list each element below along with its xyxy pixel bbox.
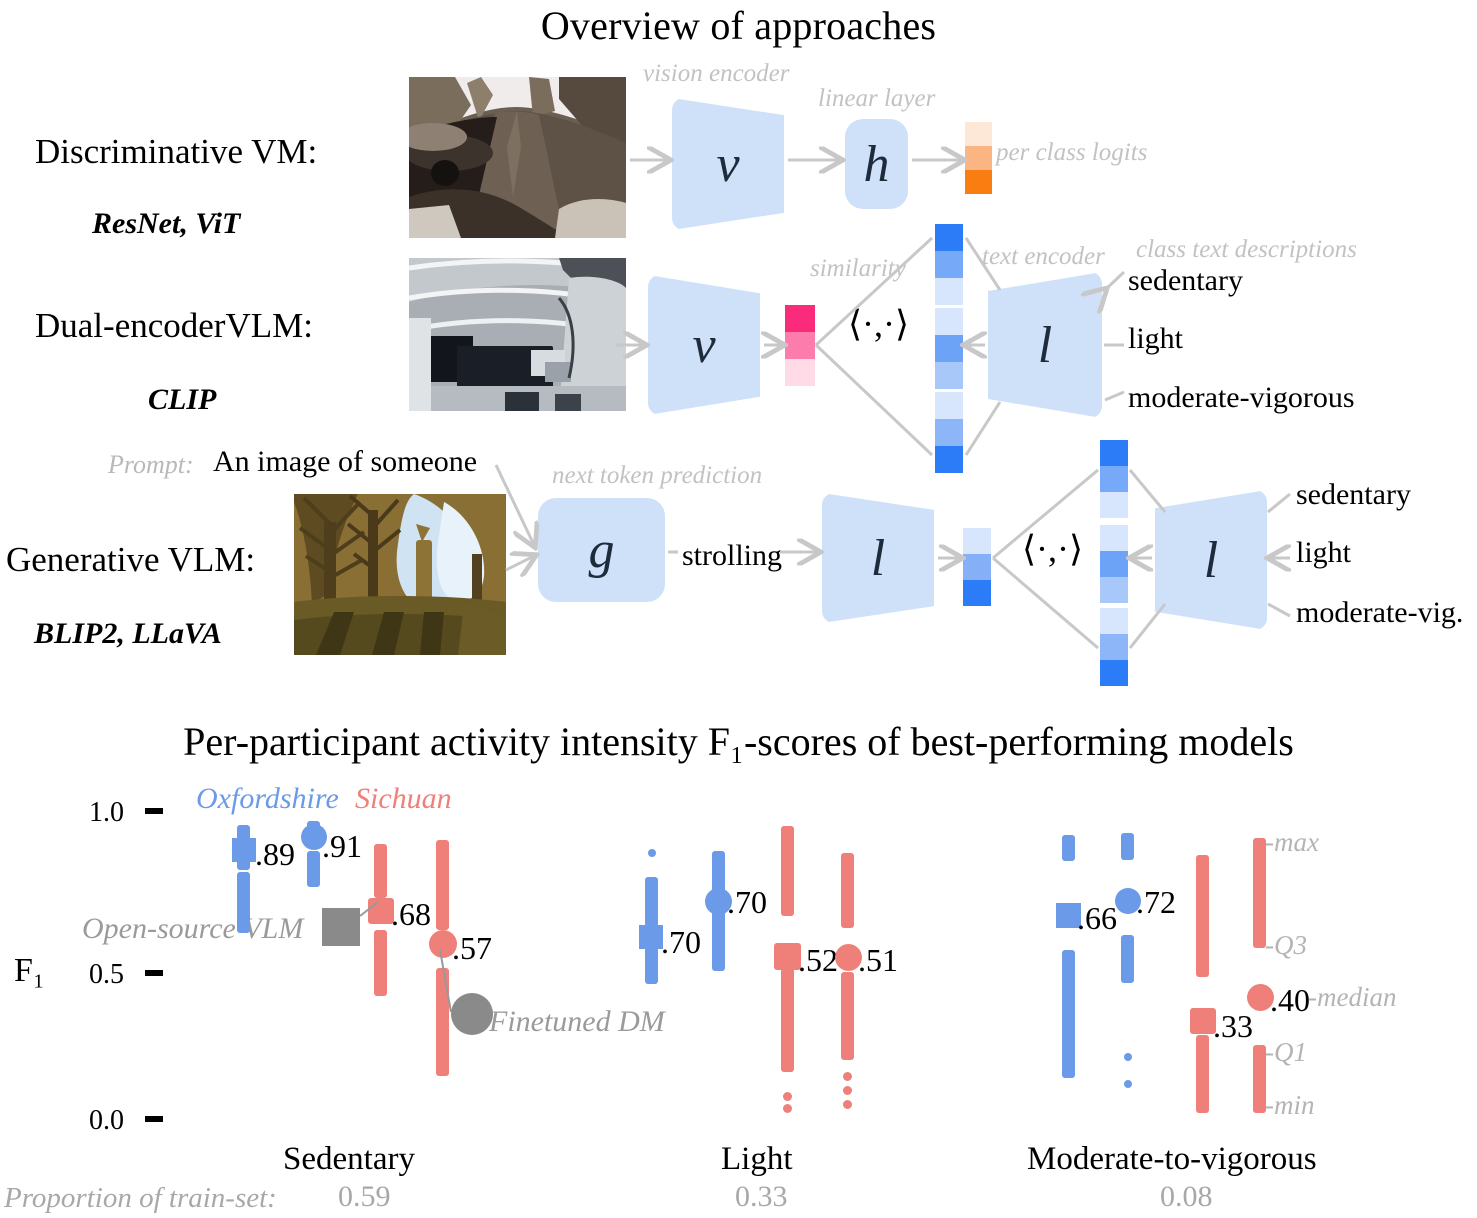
- thumbnail-road-image: [409, 77, 626, 238]
- similarity-symbol-gen: ⟨·,·⟩: [1022, 528, 1083, 570]
- row-label-dual-encoder: Dual-encoderVLM:: [35, 306, 313, 346]
- gen-sim-cell-b2: [1100, 577, 1128, 603]
- text-embedding-cell-1: [963, 554, 991, 580]
- legend-finetuned-dm: Finetuned DM: [489, 1005, 665, 1039]
- sim-cell-c0: [935, 392, 963, 419]
- logits-cell-1: [965, 146, 992, 170]
- median-label-mvpa-ox-dm: .72: [1136, 884, 1176, 921]
- median-marker-light-si-vlm: [774, 943, 801, 970]
- block-letter-l: l: [1038, 316, 1052, 375]
- box-sedentary-ox-vlm-lower: [237, 872, 250, 933]
- outlier-light-si-dm-1: [843, 1072, 852, 1081]
- block-linear-layer-h: h: [845, 119, 908, 209]
- image-embedding-cell-2: [785, 359, 815, 386]
- box-sedentary-ox-dm-lower: [307, 851, 320, 887]
- median-marker-light-ox-vlm: [639, 925, 663, 949]
- box-sedentary-si-vlm-lower: [374, 930, 387, 996]
- text-embedding-cell-0: [963, 528, 991, 554]
- gen-sim-cell-b1: [1100, 551, 1128, 577]
- block-letter-l2: l: [1204, 531, 1218, 590]
- legend-oxfordshire: Oxfordshire: [196, 782, 339, 816]
- logits-cell-0: [965, 122, 992, 146]
- box-sedentary-si-dm-upper: [436, 840, 449, 930]
- box-mvpa-ox-vlm-upper: [1062, 835, 1075, 861]
- annotation-vision-encoder: vision encoder: [643, 60, 789, 88]
- similarity-symbol-dual: ⟨·,·⟩: [848, 303, 909, 345]
- row-models-dual-encoder: CLIP: [148, 383, 216, 417]
- outlier-mvpa-ox-dm-2: [1124, 1080, 1132, 1088]
- block-text-encoder-l: l: [988, 272, 1102, 418]
- block-letter-v2: v: [692, 316, 715, 375]
- prompt-text: An image of someone: [213, 445, 477, 479]
- annotation-class-text-descriptions: class text descriptions: [1136, 236, 1357, 264]
- block-letter-h: h: [864, 135, 890, 194]
- block-vision-encoder-v2: v: [648, 275, 760, 415]
- median-label-light-ox-vlm: .70: [661, 924, 701, 961]
- proportion-moderate-to-vigorous: 0.08: [1160, 1180, 1213, 1214]
- box-light-ox-vlm-upper: [645, 877, 658, 927]
- sim-cell-a2: [935, 278, 963, 305]
- outlier-light-ox-vlm: [648, 849, 656, 857]
- ytick-mark-3: [145, 1116, 163, 1122]
- class-label-sedentary-dual: sedentary: [1128, 264, 1243, 298]
- box-mvpa-ox-dm-lower: [1121, 935, 1134, 983]
- gen-sim-cell-b0: [1100, 525, 1128, 551]
- block-generative-g: g: [538, 498, 665, 602]
- outlier-mvpa-ox-dm-1: [1124, 1053, 1132, 1061]
- sim-cell-a0: [935, 224, 963, 251]
- prompt-label: Prompt:: [108, 450, 194, 480]
- sim-cell-b2: [935, 362, 963, 389]
- box-annotation-min: -min: [1265, 1090, 1315, 1121]
- box-light-si-vlm-lower: [781, 968, 794, 1072]
- median-label-light-si-dm: .51: [858, 942, 898, 979]
- box-annotation-q3: -Q3: [1265, 930, 1307, 961]
- gen-sim-cell-a2: [1100, 492, 1128, 518]
- thumbnail-desk-image: [409, 258, 626, 411]
- ytick-mark-2: [145, 970, 163, 976]
- box-sedentary-si-dm-lower: [436, 968, 449, 1076]
- class-label-light-gen: light: [1296, 536, 1351, 570]
- legend-sichuan: Sichuan: [355, 782, 452, 816]
- median-label-sedentary-ox-dm: .91: [322, 828, 362, 865]
- row-label-discriminative: Discriminative VM:: [35, 132, 317, 172]
- generated-token: strolling: [682, 539, 782, 573]
- proportion-light: 0.33: [735, 1180, 788, 1214]
- median-label-light-si-vlm: .52: [798, 942, 838, 979]
- median-label-sedentary-si-vlm: .68: [391, 896, 431, 933]
- box-light-si-vlm-upper: [781, 826, 794, 916]
- block-letter-g: g: [589, 521, 615, 580]
- class-label-sedentary-gen: sedentary: [1296, 478, 1411, 512]
- median-label-light-ox-dm: .70: [727, 884, 767, 921]
- gen-sim-cell-c1: [1100, 634, 1128, 660]
- ytick-1: 1.0: [89, 797, 124, 829]
- median-label-sedentary-si-dm: .57: [452, 930, 492, 967]
- sim-cell-c2: [935, 446, 963, 473]
- outlier-light-si-dm-2: [843, 1086, 852, 1095]
- box-annotation-q1: -Q1: [1265, 1037, 1307, 1068]
- annotation-linear-layer: linear layer: [818, 85, 935, 113]
- gen-sim-cell-a1: [1100, 466, 1128, 492]
- category-label-light: Light: [721, 1141, 793, 1178]
- median-marker-sedentary-ox-vlm: [232, 838, 256, 862]
- box-mvpa-si-vlm-upper: [1196, 855, 1209, 977]
- gen-sim-cell-a0: [1100, 440, 1128, 466]
- box-light-ox-dm-lower: [712, 911, 725, 971]
- image-embedding-cell-0: [785, 305, 815, 332]
- sim-cell-b0: [935, 308, 963, 335]
- median-label-mvpa-ox-vlm: .66: [1077, 900, 1117, 937]
- legend-finetuned-dm-marker: [451, 993, 493, 1035]
- category-label-sedentary: Sedentary: [283, 1141, 415, 1178]
- box-mvpa-si-vlm-lower: [1196, 1035, 1209, 1113]
- legend-open-source-vlm-marker: [322, 908, 360, 946]
- image-embedding-cell-1: [785, 332, 815, 359]
- thumbnail-park-image: [294, 494, 506, 655]
- block-vision-encoder-v: v: [672, 98, 784, 230]
- ytick-2: 0.5: [89, 959, 124, 991]
- gen-sim-cell-c2: [1100, 660, 1128, 686]
- proportion-of-train-set-label: Proportion of train-set:: [4, 1182, 277, 1215]
- annotation-similarity: similarity: [810, 255, 906, 283]
- ytick-3: 0.0: [89, 1105, 124, 1137]
- row-models-generative: BLIP2, LLaVA: [34, 617, 222, 651]
- sim-cell-c1: [935, 419, 963, 446]
- median-label-mvpa-si-vlm: .33: [1213, 1008, 1253, 1045]
- outlier-light-si-dm-3: [843, 1100, 852, 1109]
- annotation-next-token-prediction: next token prediction: [552, 462, 762, 490]
- category-label-moderate-to-vigorous: Moderate-to-vigorous: [1027, 1141, 1317, 1178]
- box-light-ox-dm-upper: [712, 851, 725, 893]
- text-embedding-cell-2: [963, 580, 991, 606]
- logits-cell-2: [965, 170, 992, 194]
- box-light-si-dm-lower: [841, 972, 854, 1060]
- outlier-light-si-vlm-1: [783, 1092, 792, 1101]
- chart-ylabel: F₁: [14, 952, 45, 990]
- annotation-text-encoder: text encoder: [982, 243, 1105, 271]
- chart-title: Per-participant activity intensity F₁-sc…: [0, 718, 1477, 765]
- box-mvpa-ox-vlm-lower: [1062, 950, 1075, 1078]
- box-mvpa-ox-dm-upper: [1121, 833, 1134, 860]
- row-label-generative: Generative VLM:: [6, 540, 255, 580]
- sim-cell-b1: [935, 335, 963, 362]
- box-light-ox-vlm-lower: [645, 947, 658, 984]
- gen-sim-cell-c0: [1100, 608, 1128, 634]
- box-sedentary-si-vlm-upper: [374, 844, 387, 898]
- block-letter-l1: l: [871, 529, 885, 588]
- annotation-per-class-logits: per class logits: [996, 139, 1147, 167]
- box-annotation-max: -max: [1265, 827, 1319, 858]
- sim-cell-a1: [935, 251, 963, 278]
- block-text-encoder-l2: l: [1155, 490, 1267, 630]
- block-language-encoder-l1: l: [822, 493, 934, 623]
- median-label-mvpa-si-dm: .40: [1270, 982, 1310, 1019]
- row-models-discriminative: ResNet, ViT: [92, 207, 240, 241]
- diagram-title: Overview of approaches: [0, 2, 1477, 49]
- class-label-moderate-gen: moderate-vig.: [1296, 596, 1463, 630]
- outlier-light-si-vlm-2: [783, 1104, 792, 1113]
- box-light-si-dm-upper: [841, 853, 854, 928]
- class-label-light-dual: light: [1128, 322, 1183, 356]
- median-label-sedentary-ox-vlm: .89: [255, 836, 295, 873]
- legend-open-source-vlm: Open-source VLM: [82, 912, 303, 946]
- class-label-moderate-dual: moderate-vigorous: [1128, 381, 1355, 415]
- box-annotation-median: -median: [1308, 982, 1396, 1013]
- block-letter-v: v: [716, 135, 739, 194]
- ytick-mark-1: [145, 808, 163, 814]
- proportion-sedentary: 0.59: [338, 1180, 391, 1214]
